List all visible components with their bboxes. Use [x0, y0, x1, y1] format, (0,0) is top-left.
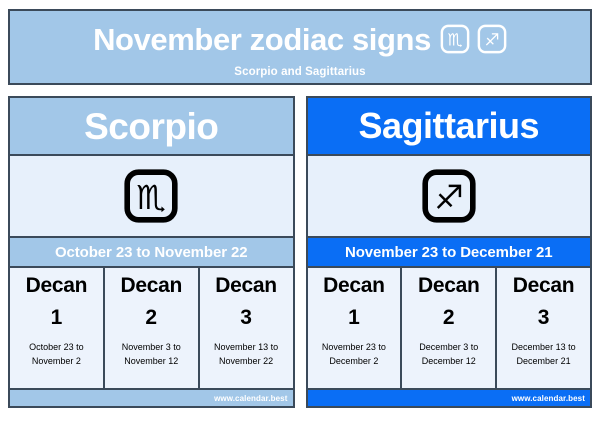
- sagittarius-symbol-icon: ♐: [477, 24, 507, 54]
- decan-range-line1: December 3 to: [419, 342, 478, 352]
- decan-range: October 23 to November 2: [26, 341, 87, 368]
- decan-range-line2: November 2: [32, 356, 81, 366]
- decan-range: November 3 to November 12: [119, 341, 184, 368]
- decan-number: 1: [51, 307, 63, 329]
- decan-number: 2: [145, 307, 157, 329]
- decans-row: Decan 1 October 23 to November 2 Decan 2…: [10, 268, 293, 388]
- decan-range-line1: November 3 to: [122, 342, 181, 352]
- sign-card-header: Scorpio: [10, 98, 293, 156]
- decan-range-line1: October 23 to: [29, 342, 84, 352]
- sign-name: Sagittarius: [358, 108, 539, 144]
- watermark: www.calendar.best: [214, 394, 287, 403]
- decan-range: November 13 to November 22: [211, 341, 281, 368]
- decan-range-line1: November 13 to: [214, 342, 278, 352]
- zodiac-infographic: November zodiac signs ♏ ♐ Scorpio and Sa…: [0, 0, 600, 424]
- banner-icons: ♏ ♐: [440, 24, 507, 54]
- decan-range: December 3 to December 12: [416, 341, 481, 368]
- decan-label: Decan: [323, 275, 385, 297]
- decan-range-line2: December 2: [329, 356, 378, 366]
- card-footer: www.calendar.best: [308, 388, 591, 406]
- sign-name: Scorpio: [84, 108, 218, 145]
- decan-range: December 13 to December 21: [509, 341, 579, 368]
- sign-date-range-band: November 23 to December 21: [308, 238, 591, 268]
- decan-range-line1: November 23 to: [322, 342, 386, 352]
- scorpio-symbol-icon: ♏: [440, 24, 470, 54]
- card-footer: www.calendar.best: [10, 388, 293, 406]
- page-title: November zodiac signs: [93, 24, 431, 55]
- decan-range-line2: November 12: [124, 356, 178, 366]
- decan-number: 1: [348, 307, 360, 329]
- svg-text:♐: ♐: [434, 178, 464, 217]
- decan-label: Decan: [215, 275, 277, 297]
- svg-text:♐: ♐: [484, 30, 499, 50]
- banner-title-row: November zodiac signs ♏ ♐: [93, 18, 507, 60]
- decan-label: Decan: [418, 275, 480, 297]
- decan-range-line2: December 21: [517, 356, 571, 366]
- svg-text:♏: ♏: [447, 30, 462, 50]
- decan-cell: Decan 2 December 3 to December 12: [402, 268, 497, 388]
- decan-range: November 23 to December 2: [319, 341, 389, 368]
- sagittarius-symbol-icon: ♐: [421, 168, 477, 224]
- svg-text:♏: ♏: [136, 178, 166, 217]
- sign-date-range: November 23 to December 21: [345, 244, 553, 261]
- decan-cell: Decan 2 November 3 to November 12: [105, 268, 200, 388]
- scorpio-symbol-icon: ♏: [123, 168, 179, 224]
- decan-range-line1: December 13 to: [512, 342, 576, 352]
- sign-card-sagittarius: Sagittarius ♐ November 23 to December 21…: [306, 96, 593, 408]
- sign-date-range-band: October 23 to November 22: [10, 238, 293, 268]
- decan-cell: Decan 1 November 23 to December 2: [308, 268, 403, 388]
- decan-number: 2: [443, 307, 455, 329]
- decan-cell: Decan 1 October 23 to November 2: [10, 268, 105, 388]
- decan-cell: Decan 3 December 13 to December 21: [497, 268, 590, 388]
- sign-symbol-panel: ♏: [10, 156, 293, 238]
- sign-date-range: October 23 to November 22: [55, 244, 248, 261]
- sign-card-scorpio: Scorpio ♏ October 23 to November 22 Deca…: [8, 96, 295, 408]
- page-subtitle: Scorpio and Sagittarius: [234, 66, 365, 78]
- sign-card-header: Sagittarius: [308, 98, 591, 156]
- banner: November zodiac signs ♏ ♐ Scorpio and Sa…: [8, 9, 592, 85]
- decan-cell: Decan 3 November 13 to November 22: [200, 268, 293, 388]
- decan-range-line2: December 12: [422, 356, 476, 366]
- decan-label: Decan: [120, 275, 182, 297]
- decan-label: Decan: [513, 275, 575, 297]
- decan-number: 3: [240, 307, 252, 329]
- decan-number: 3: [538, 307, 550, 329]
- sign-symbol-panel: ♐: [308, 156, 591, 238]
- decans-row: Decan 1 November 23 to December 2 Decan …: [308, 268, 591, 388]
- decan-label: Decan: [26, 275, 88, 297]
- decan-range-line2: November 22: [219, 356, 273, 366]
- watermark: www.calendar.best: [512, 394, 585, 403]
- sign-cards: Scorpio ♏ October 23 to November 22 Deca…: [8, 96, 592, 408]
